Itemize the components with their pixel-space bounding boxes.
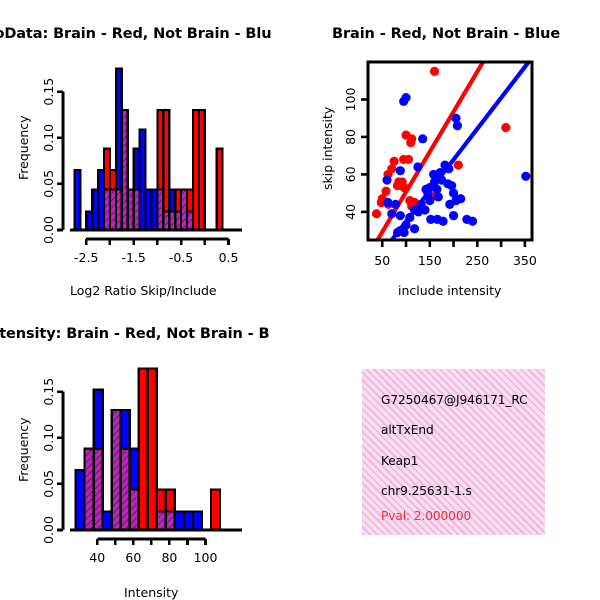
- scatter-point-not-brain: [453, 121, 462, 130]
- y-tick-label: 0.00: [41, 516, 56, 544]
- histogram-bar-overlap: [130, 489, 139, 530]
- histogram-bar-brain: [148, 369, 157, 530]
- histogram-bar-not-brain: [94, 390, 103, 449]
- histogram-bar-brain: [217, 149, 223, 230]
- histogram-bar-overlap: [94, 449, 103, 530]
- scatter-point-not-brain: [439, 217, 448, 226]
- intensity-histogram-ylabel: Frequency: [16, 417, 31, 482]
- scatter-point-brain: [406, 138, 415, 147]
- histogram-bar-brain: [166, 489, 175, 511]
- scatter-point-not-brain: [423, 189, 432, 198]
- histogram-bar-not-brain: [193, 512, 202, 530]
- y-tick-label: 0.00: [41, 216, 56, 244]
- y-tick-label: 0.15: [41, 378, 56, 406]
- scatter-point-brain: [372, 209, 381, 218]
- histogram-bar-overlap: [157, 512, 166, 530]
- histogram-bars: [76, 369, 220, 530]
- scatter-point-not-brain: [418, 134, 427, 143]
- scatter-point-not-brain: [396, 211, 405, 220]
- ratio-histogram-panel: RatioData: Brain - Red, Not Brain - Blu …: [0, 0, 300, 310]
- x-tick-label: -0.5: [169, 250, 193, 265]
- y-tick-label: 0.05: [41, 170, 56, 198]
- histogram-bar-overlap: [85, 449, 94, 530]
- scatter-point-not-brain: [468, 217, 477, 226]
- scatter-ylabel: skip intensity: [320, 107, 335, 190]
- intensity-histogram-panel: ne Itensity: Brain - Red, Not Brain - B …: [0, 300, 300, 600]
- scatter-point-not-brain: [456, 194, 465, 203]
- info-line-event-type: altTxEnd: [381, 423, 434, 437]
- y-tick-label: 0.10: [41, 424, 56, 452]
- intensity-histogram-plot: 0.000.050.100.15406080100: [0, 350, 300, 600]
- scatter-panel: Brain - Red, Not Brain - Blue 4060801005…: [300, 0, 600, 310]
- histogram-bar-brain: [139, 369, 148, 530]
- histogram-bar-not-brain: [184, 512, 193, 530]
- info-line-pvalue: Pval: 2.000000: [381, 509, 471, 523]
- histogram-bar-brain: [199, 110, 205, 230]
- histogram-bar-not-brain: [76, 470, 85, 530]
- scatter-point-not-brain: [449, 211, 458, 220]
- x-tick-label: 50: [374, 253, 390, 268]
- scatter-point-brain: [400, 183, 409, 192]
- scatter-point-not-brain: [410, 224, 419, 233]
- scatter-point-not-brain: [393, 228, 402, 237]
- scatter-content: [372, 62, 530, 240]
- histogram-bar-overlap: [121, 449, 130, 530]
- scatter-point-not-brain: [382, 175, 391, 184]
- y-tick-label: 0.05: [41, 470, 56, 498]
- scatter-point-not-brain: [434, 192, 443, 201]
- scatter-point-brain: [454, 160, 463, 169]
- intensity-histogram-title: ne Itensity: Brain - Red, Not Brain - B: [0, 326, 269, 342]
- histogram-bar-not-brain: [130, 449, 139, 490]
- x-tick-label: -2.5: [74, 250, 98, 265]
- x-tick-label: 150: [418, 253, 442, 268]
- ratio-histogram-ylabel: Frequency: [16, 115, 31, 180]
- x-tick-label: 60: [125, 550, 141, 565]
- x-tick-label: 80: [161, 550, 177, 565]
- scatter-point-not-brain: [521, 172, 530, 181]
- scatter-point-not-brain: [399, 97, 408, 106]
- histogram-bar-not-brain: [74, 170, 80, 230]
- ratio-histogram-title: RatioData: Brain - Red, Not Brain - Blu: [0, 26, 271, 42]
- scatter-point-not-brain: [391, 200, 400, 209]
- scatter-point-brain: [404, 155, 413, 164]
- scatter-point-brain: [430, 67, 439, 76]
- scatter-point-not-brain: [396, 166, 405, 175]
- scatter-point-not-brain: [387, 209, 396, 218]
- histogram-bar-overlap: [166, 512, 175, 530]
- ratio-histogram-xlabel: Log2 Ratio Skip/Include: [70, 283, 217, 298]
- y-tick-label: 80: [343, 129, 358, 145]
- y-tick-label: 0.15: [41, 78, 56, 106]
- x-tick-label: -1.5: [121, 250, 145, 265]
- y-tick-label: 60: [343, 166, 358, 182]
- scatter-point-not-brain: [436, 168, 445, 177]
- histogram-bar-overlap: [112, 410, 121, 530]
- histogram-bar-not-brain: [103, 512, 112, 530]
- y-tick-label: 40: [343, 204, 358, 220]
- info-line-probe-id: G7250467@J946171_RC: [381, 393, 528, 407]
- scatter-xlabel: include intensity: [398, 283, 501, 298]
- intensity-histogram-xlabel: Intensity: [124, 585, 178, 600]
- scatter-point-brain: [501, 123, 510, 132]
- histogram-bar-not-brain: [175, 512, 184, 530]
- y-tick-label: 0.10: [41, 124, 56, 152]
- scatter-title: Brain - Red, Not Brain - Blue: [332, 26, 560, 42]
- x-tick-label: 0.5: [219, 250, 239, 265]
- scatter-plot: 40608010050150250350: [300, 50, 600, 300]
- histogram-bar-brain: [211, 489, 220, 530]
- scatter-point-not-brain: [444, 164, 453, 173]
- x-tick-label: 40: [89, 550, 105, 565]
- histogram-bar-not-brain: [121, 410, 130, 449]
- x-tick-label: 250: [465, 253, 489, 268]
- histogram-bar-brain: [157, 489, 166, 511]
- scatter-point-not-brain: [414, 207, 423, 216]
- gene-info-panel: G7250467@J946171_RC altTxEnd Keap1 chr9.…: [362, 369, 545, 535]
- y-tick-label: 100: [343, 87, 358, 111]
- info-line-coordinate: chr9.25631-1.s: [381, 484, 472, 498]
- x-tick-label: 100: [194, 550, 218, 565]
- histogram-bars: [74, 69, 222, 230]
- x-tick-label: 350: [513, 253, 537, 268]
- scatter-point-not-brain: [445, 200, 454, 209]
- scatter-point-not-brain: [413, 162, 422, 171]
- ratio-histogram-plot: 0.000.050.100.15-2.5-1.5-0.50.5: [0, 50, 300, 300]
- info-line-gene-symbol: Keap1: [381, 454, 418, 468]
